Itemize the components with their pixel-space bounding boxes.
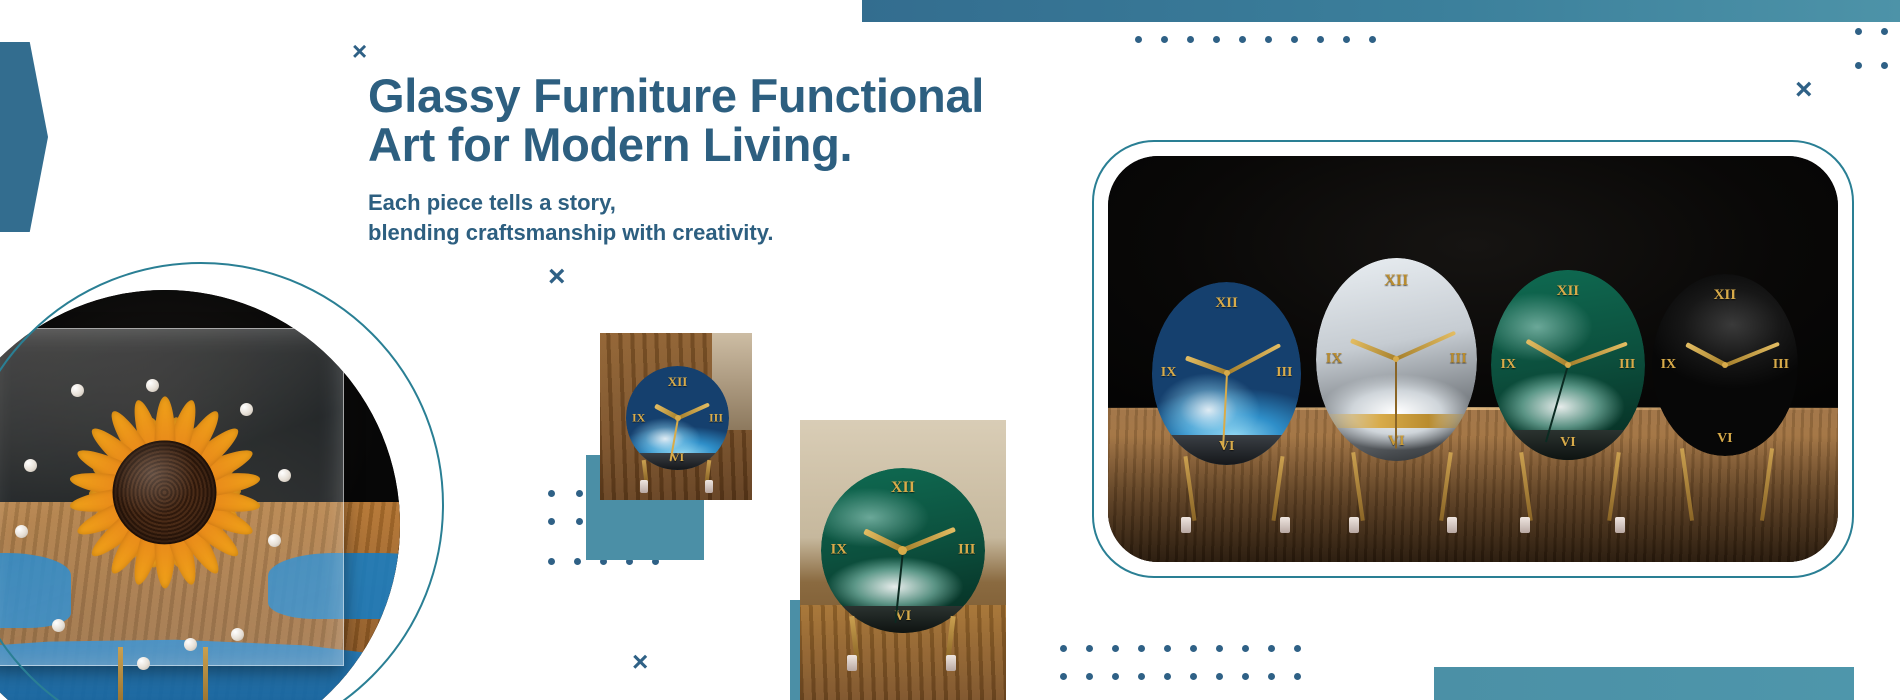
numeral-iii: III [1773, 357, 1789, 373]
numeral-ix: IX [1500, 357, 1516, 373]
ocean-blue-clock: XII III IX VI [1152, 282, 1302, 465]
numeral-vi: VI [1219, 439, 1235, 455]
numeral-xii: XII [1215, 295, 1238, 312]
stand-foot [1447, 517, 1457, 533]
x-top-right-icon: × [1795, 75, 1813, 105]
numeral-iii: III [1619, 357, 1635, 373]
numeral-ix: IX [632, 411, 645, 426]
hero-copy-block: Glassy Furniture Functional Art for Mode… [368, 72, 1068, 248]
emerald-ocean-clock: XII III IX VI [821, 468, 986, 633]
dot-grid-bottom [1060, 645, 1320, 700]
numeral-xii: XII [891, 479, 915, 497]
hero-photo: XII III IX VI XII III IX VI [1108, 156, 1838, 562]
numeral-xii: XII [1714, 287, 1737, 304]
numeral-iii: III [1276, 365, 1292, 381]
numeral-vi: VI [1717, 431, 1733, 447]
dot-grid-top-corner [1855, 28, 1900, 96]
stand-foot [1181, 517, 1191, 533]
hero-banner: ×××× Glassy Furniture Functional Art for… [0, 0, 1900, 700]
page-subtitle: Each piece tells a story, blending craft… [368, 188, 1068, 249]
numeral-vi: VI [1560, 435, 1576, 451]
clock-center-pin [675, 415, 681, 421]
stand-foot [1520, 517, 1530, 533]
blue-clock-card: XII III IX VI [600, 333, 752, 500]
page-title: Glassy Furniture Functional Art for Mode… [368, 72, 1068, 170]
numeral-xii: XII [1384, 272, 1408, 290]
stand-foot [1280, 517, 1290, 533]
numeral-xii: XII [1557, 283, 1580, 300]
dot-grid-mid-left-row [548, 558, 678, 584]
numeral-ix: IX [1161, 365, 1177, 381]
numeral-iii: III [709, 411, 723, 426]
stand-foot [847, 655, 857, 671]
stand-foot [640, 480, 648, 493]
stand-foot [705, 480, 713, 493]
left-chevron-decoration [0, 42, 48, 232]
dot-grid-top-right [1135, 36, 1395, 62]
stand-foot [946, 655, 956, 671]
clock-center-pin [1722, 362, 1728, 368]
emerald-clock: XII III IX VI [1491, 270, 1644, 461]
clock-center-pin [1565, 362, 1571, 368]
white-gold-clock: XII III IX VI [1316, 258, 1477, 461]
x-bottom-left-icon: × [632, 648, 648, 676]
green-clock-card: XII III IX VI [800, 420, 1006, 700]
bottom-teal-bar [1434, 667, 1854, 700]
numeral-ix: IX [1326, 351, 1343, 368]
stand-foot [1349, 517, 1359, 533]
top-teal-bar [862, 0, 1900, 22]
numeral-iii: III [958, 542, 976, 559]
numeral-xii: XII [668, 374, 688, 390]
numeral-ix: IX [830, 542, 847, 559]
stand-foot [1615, 517, 1625, 533]
numeral-ix: IX [1661, 357, 1677, 373]
clock-center-pin [1224, 370, 1230, 376]
x-top-left-icon: × [352, 38, 367, 64]
numeral-iii: III [1450, 351, 1468, 368]
x-below-subhead-icon: × [548, 262, 566, 292]
black-clock: XII III IX VI [1652, 274, 1798, 457]
hero-photo-frame: XII III IX VI XII III IX VI [1092, 140, 1854, 578]
navy-ocean-clock: XII III IX VI [626, 366, 729, 470]
